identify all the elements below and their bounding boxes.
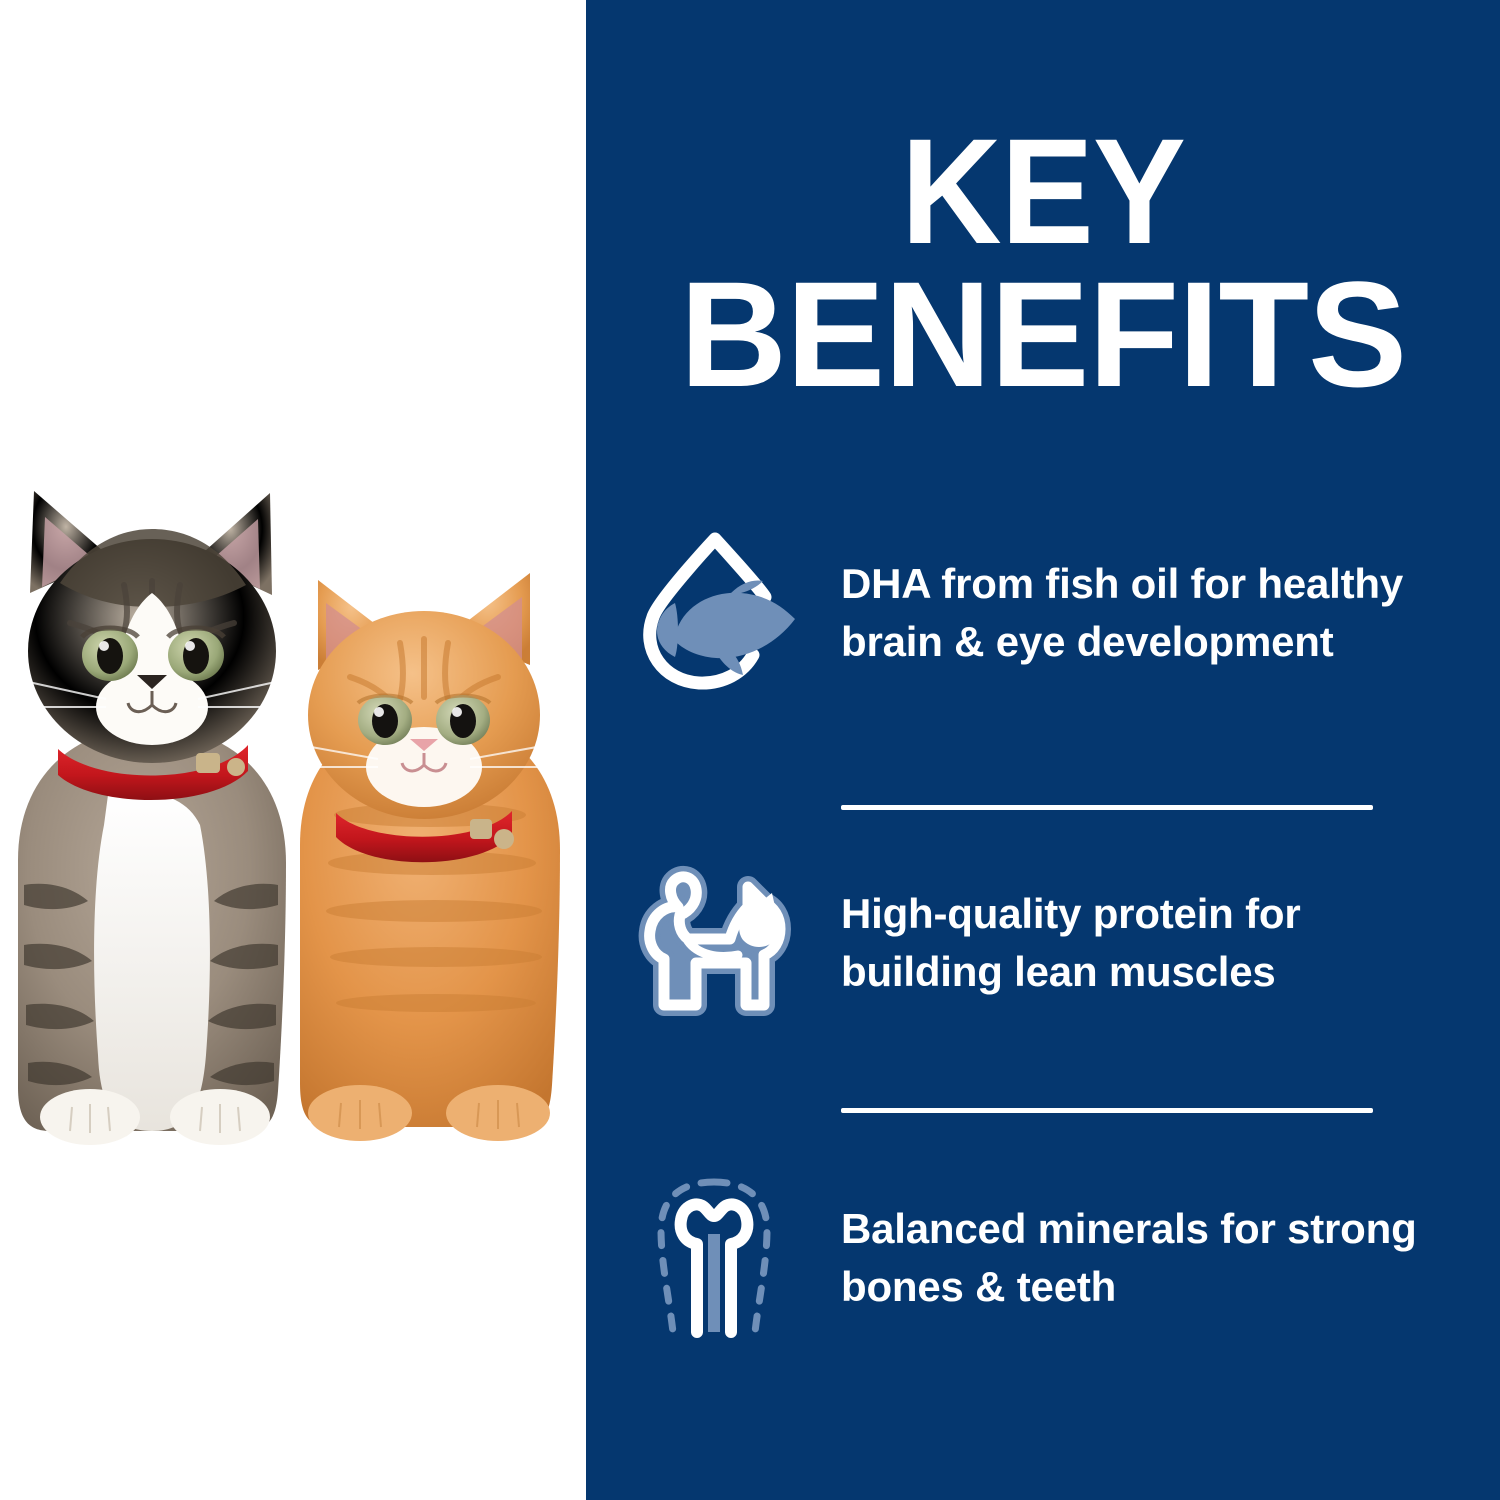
benefit-text-minerals: Balanced minerals for strong bones & tee… [841,1200,1500,1316]
water-drop-fish-icon [586,505,841,720]
benefits-panel: KEY BENEFITS [586,0,1500,1500]
ginger-kitten [300,573,560,1141]
fish-shape [657,581,795,676]
title-line-1: KEY [618,118,1468,265]
benefit-item-protein: High-quality protein for building lean m… [586,855,1500,1030]
benefit-divider-2 [841,1108,1373,1113]
title-line-2: BENEFITS [591,261,1496,408]
bone-icon [586,1170,841,1345]
key-benefits-panel-layout: KEY BENEFITS [0,0,1500,1500]
benefit-item-dha: DHA from fish oil for healthy brain & ey… [586,505,1500,720]
benefit-text-dha: DHA from fish oil for healthy brain & ey… [841,555,1500,671]
benefit-divider-1 [841,805,1373,810]
benefit-text-protein: High-quality protein for building lean m… [841,885,1500,1001]
cat-silhouette-icon [586,855,841,1030]
tabby-kitten [18,491,286,1145]
kittens-illustration [0,415,586,1175]
benefit-item-minerals: Balanced minerals for strong bones & tee… [586,1170,1500,1345]
kittens-photo [0,415,586,1175]
product-photo-panel [0,0,586,1500]
page-title: KEY BENEFITS [586,118,1500,408]
